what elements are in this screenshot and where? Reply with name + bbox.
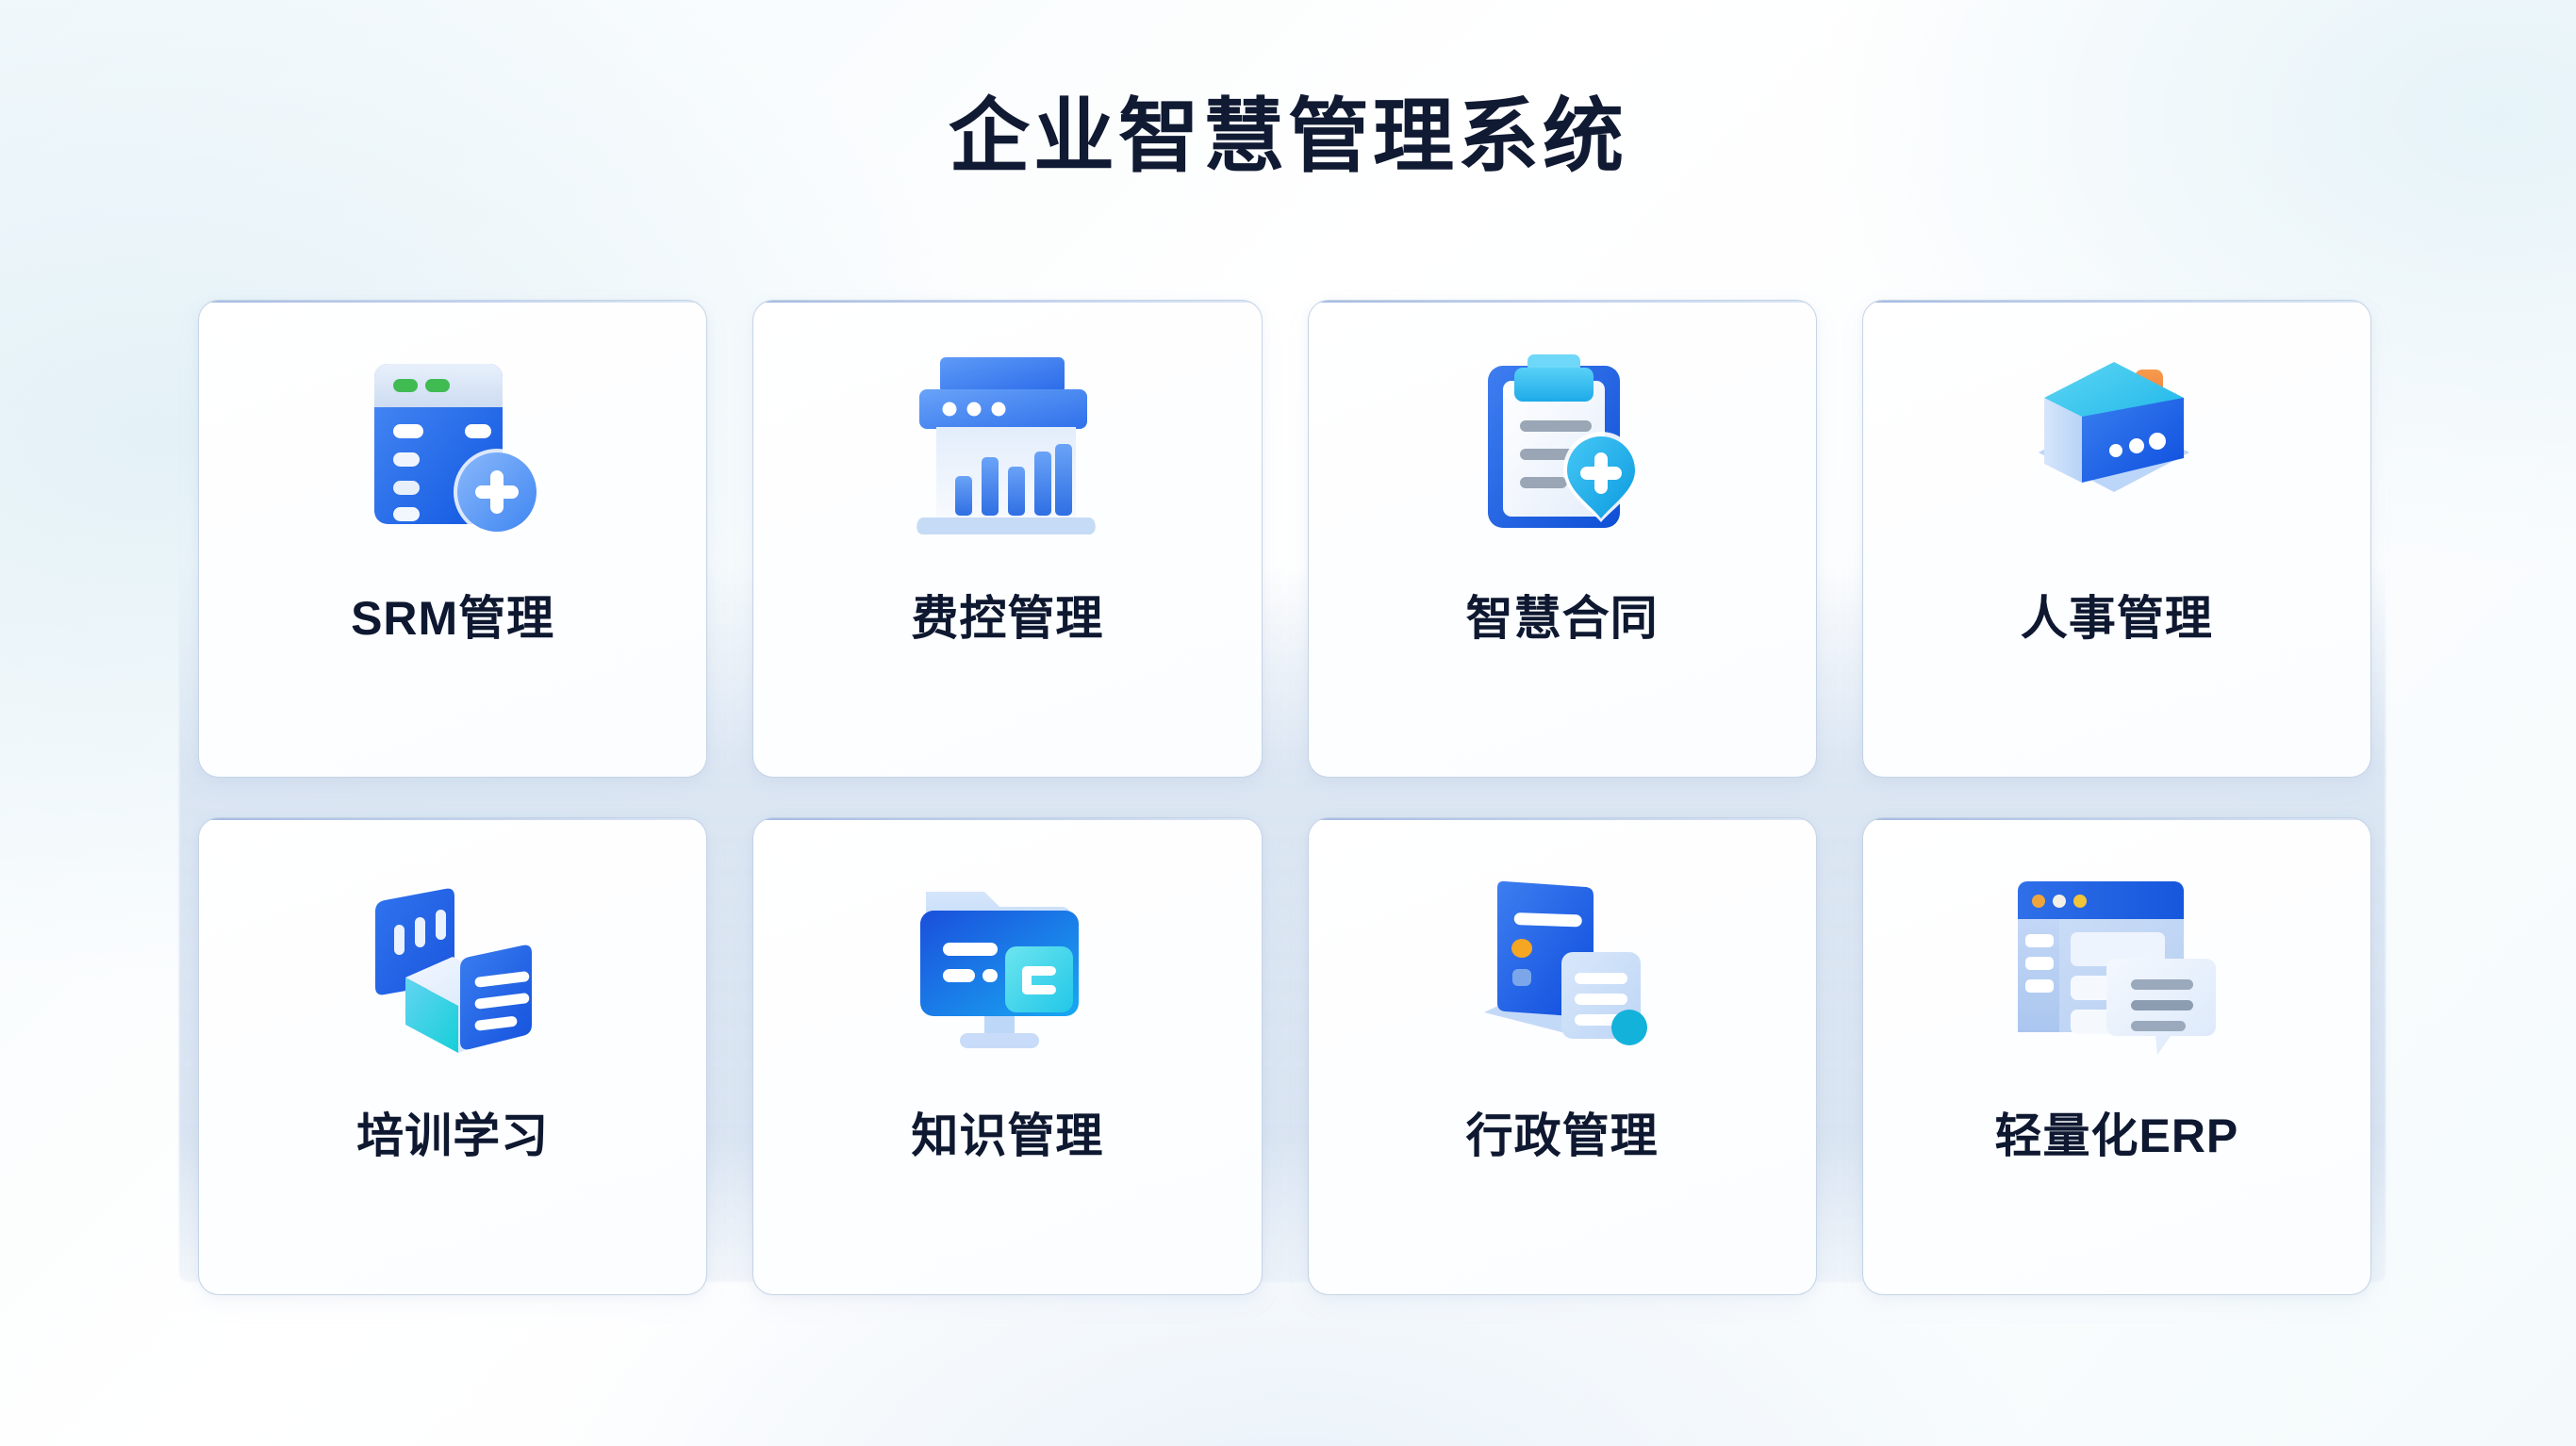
card-knowledge[interactable]: 知识管理 (752, 817, 1262, 1295)
card-label: SRM管理 (351, 595, 554, 642)
card-admin[interactable]: 行政管理 (1308, 817, 1817, 1295)
card-contract[interactable]: 智慧合同 (1308, 300, 1817, 778)
card-expense[interactable]: 费控管理 (752, 300, 1262, 778)
card-erp[interactable]: 轻量化ERP (1862, 817, 2371, 1295)
card-label: 行政管理 (1466, 1112, 1659, 1159)
isometric-cube-icon (1863, 308, 2370, 591)
card-label: 智慧合同 (1466, 595, 1659, 642)
card-training[interactable]: 培训学习 (198, 817, 707, 1295)
card-label: 费控管理 (911, 595, 1103, 642)
card-srm[interactable]: SRM管理 (198, 300, 707, 778)
card-label: 知识管理 (911, 1112, 1103, 1159)
bar-chart-board-icon (753, 308, 1261, 591)
window-chat-bubble-icon (1863, 826, 2370, 1109)
card-label: 轻量化ERP (1994, 1112, 2238, 1159)
folder-monitor-tree-icon (753, 826, 1261, 1109)
page-title: 企业智慧管理系统 (0, 90, 2576, 184)
card-hr[interactable]: 人事管理 (1862, 300, 2371, 778)
isometric-open-book-icon (199, 826, 706, 1109)
clipboard-shield-add-icon (1309, 308, 1816, 591)
module-card-grid: SRM管理 (198, 300, 2371, 1320)
board-document-icon (1309, 826, 1816, 1109)
server-list-add-icon (199, 308, 706, 591)
card-label: 培训学习 (356, 1112, 549, 1159)
card-label: 人事管理 (2021, 595, 2213, 642)
